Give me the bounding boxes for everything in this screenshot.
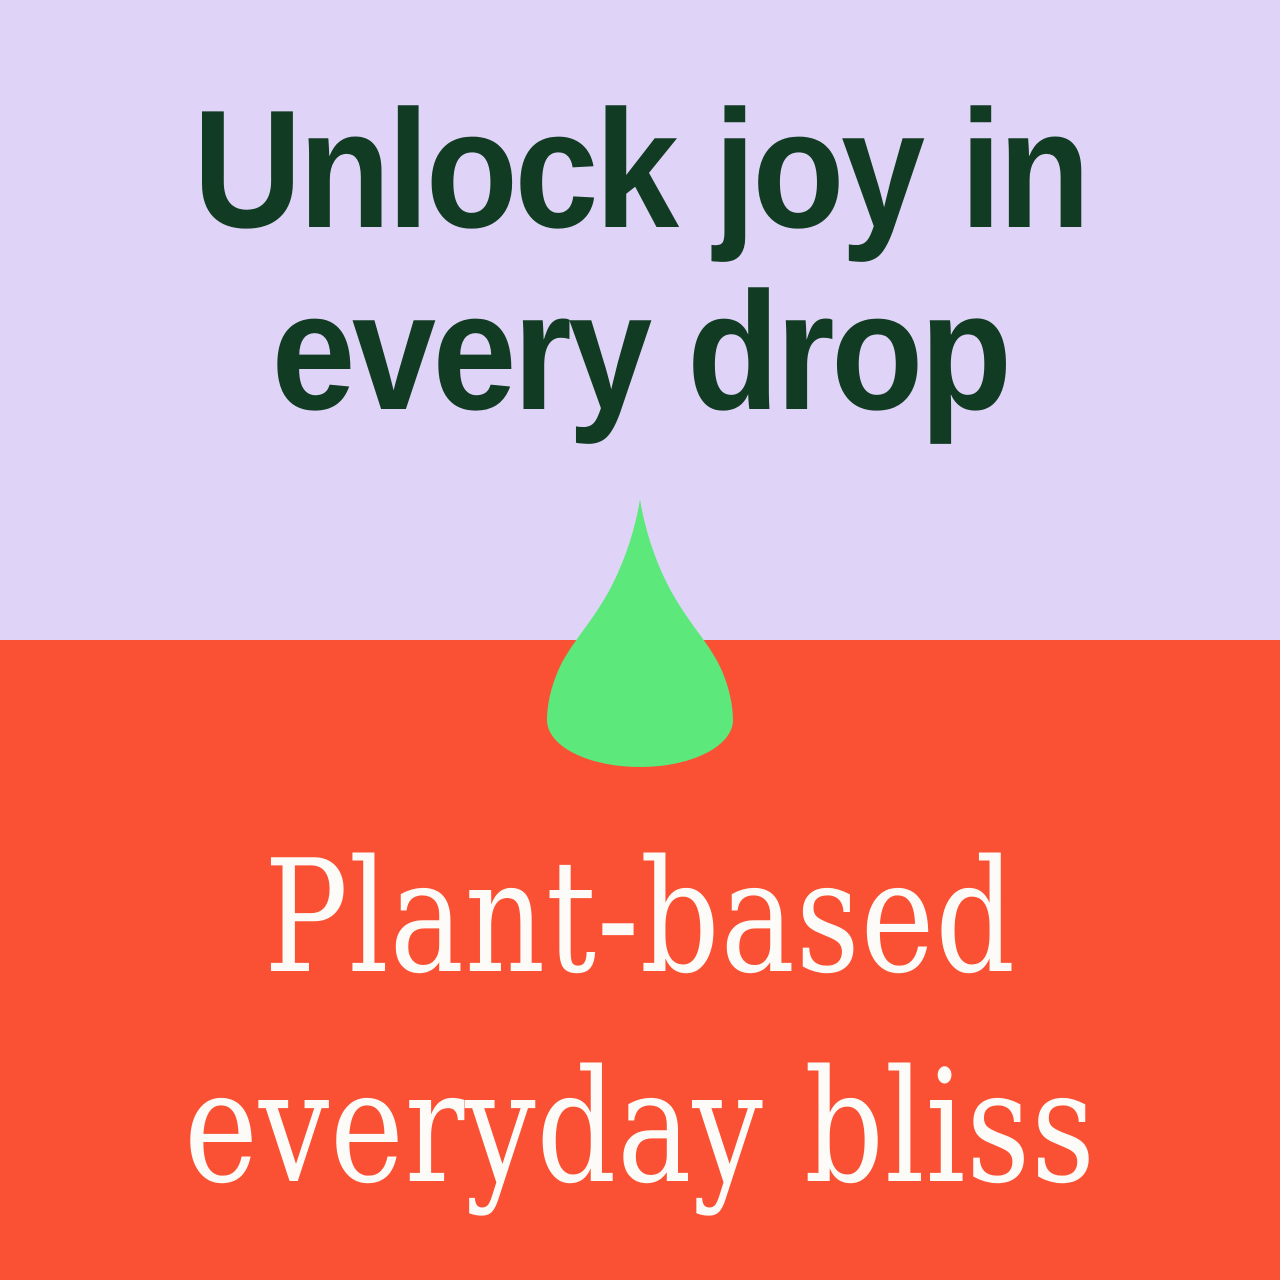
promo-poster: Unlock joy in every drop Plant-based eve… — [0, 0, 1280, 1280]
headline-line-2: every drop — [64, 260, 1216, 442]
water-drop-icon — [547, 499, 733, 767]
subline: Plant-based everyday bliss — [128, 812, 1152, 1232]
subline-line-1: Plant-based — [128, 812, 1152, 1022]
subline-line-2: everyday bliss — [128, 1022, 1152, 1232]
headline: Unlock joy in every drop — [64, 78, 1216, 442]
headline-line-1: Unlock joy in — [64, 78, 1216, 260]
